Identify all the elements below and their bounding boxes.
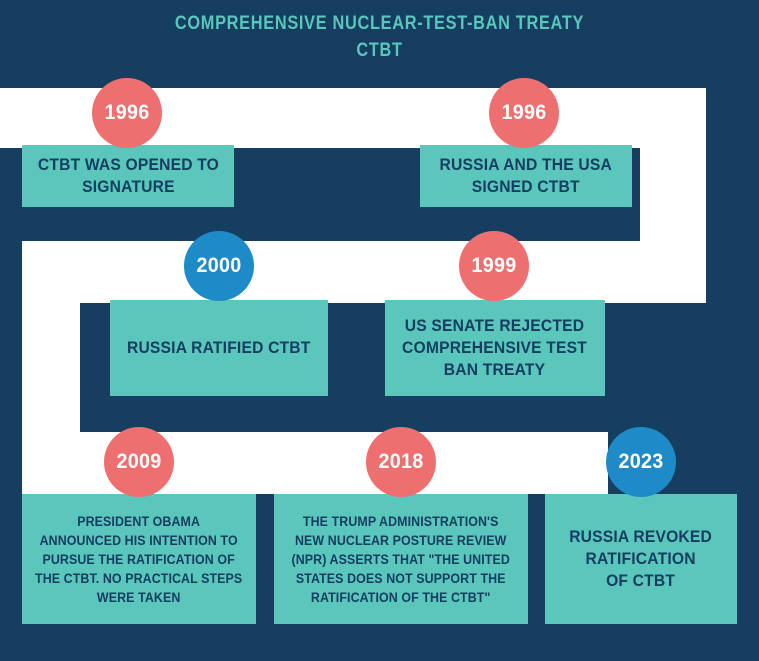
- event-year-5: 2009: [116, 450, 161, 474]
- title-line-2: CTBT: [53, 37, 706, 64]
- event-box-3: RUSSIA RATIFIED CTBT: [110, 300, 328, 396]
- page-title: COMPREHENSIVE NUCLEAR-TEST-BAN TREATY CT…: [0, 10, 759, 64]
- event-box-7: RUSSIA REVOKED RATIFICATION OF CTBT: [545, 494, 737, 624]
- event-year-1: 1996: [104, 101, 149, 125]
- event-text-6: THE TRUMP ADMINISTRATION'S NEW NUCLEAR P…: [292, 512, 510, 607]
- event-box-1: CTBT WAS OPENED TO SIGNATURE: [22, 145, 234, 207]
- event-year-2: 1996: [501, 101, 546, 125]
- event-year-7: 2023: [618, 450, 663, 474]
- event-box-6: THE TRUMP ADMINISTRATION'S NEW NUCLEAR P…: [274, 494, 528, 624]
- event-circle-5: 2009: [104, 427, 174, 497]
- event-circle-7: 2023: [606, 427, 676, 497]
- event-year-3: 2000: [196, 254, 241, 278]
- event-text-4: US SENATE REJECTED COMPREHENSIVE TEST BA…: [403, 315, 588, 381]
- event-text-2: RUSSIA AND THE USA SIGNED CTBT: [440, 154, 612, 198]
- event-year-6: 2018: [378, 450, 423, 474]
- timeline-band-row2: [22, 241, 706, 303]
- event-circle-2: 1996: [489, 78, 559, 148]
- event-year-4: 1999: [471, 254, 516, 278]
- event-box-5: PRESIDENT OBAMA ANNOUNCED HIS INTENTION …: [22, 494, 256, 624]
- event-circle-3: 2000: [184, 231, 254, 301]
- event-circle-6: 2018: [366, 427, 436, 497]
- event-box-2: RUSSIA AND THE USA SIGNED CTBT: [420, 145, 632, 207]
- event-text-1: CTBT WAS OPENED TO SIGNATURE: [37, 154, 218, 198]
- event-text-7: RUSSIA REVOKED RATIFICATION OF CTBT: [570, 526, 713, 592]
- event-text-5: PRESIDENT OBAMA ANNOUNCED HIS INTENTION …: [35, 512, 242, 607]
- event-box-4: US SENATE REJECTED COMPREHENSIVE TEST BA…: [385, 300, 605, 396]
- ctbt-timeline-infographic: COMPREHENSIVE NUCLEAR-TEST-BAN TREATY CT…: [0, 0, 759, 661]
- title-line-1: COMPREHENSIVE NUCLEAR-TEST-BAN TREATY: [53, 10, 706, 37]
- timeline-band-connector-left: [22, 303, 80, 435]
- event-circle-4: 1999: [459, 231, 529, 301]
- event-circle-1: 1996: [92, 78, 162, 148]
- event-text-3: RUSSIA RATIFIED CTBT: [127, 337, 311, 359]
- timeline-band-connector-right: [640, 148, 706, 244]
